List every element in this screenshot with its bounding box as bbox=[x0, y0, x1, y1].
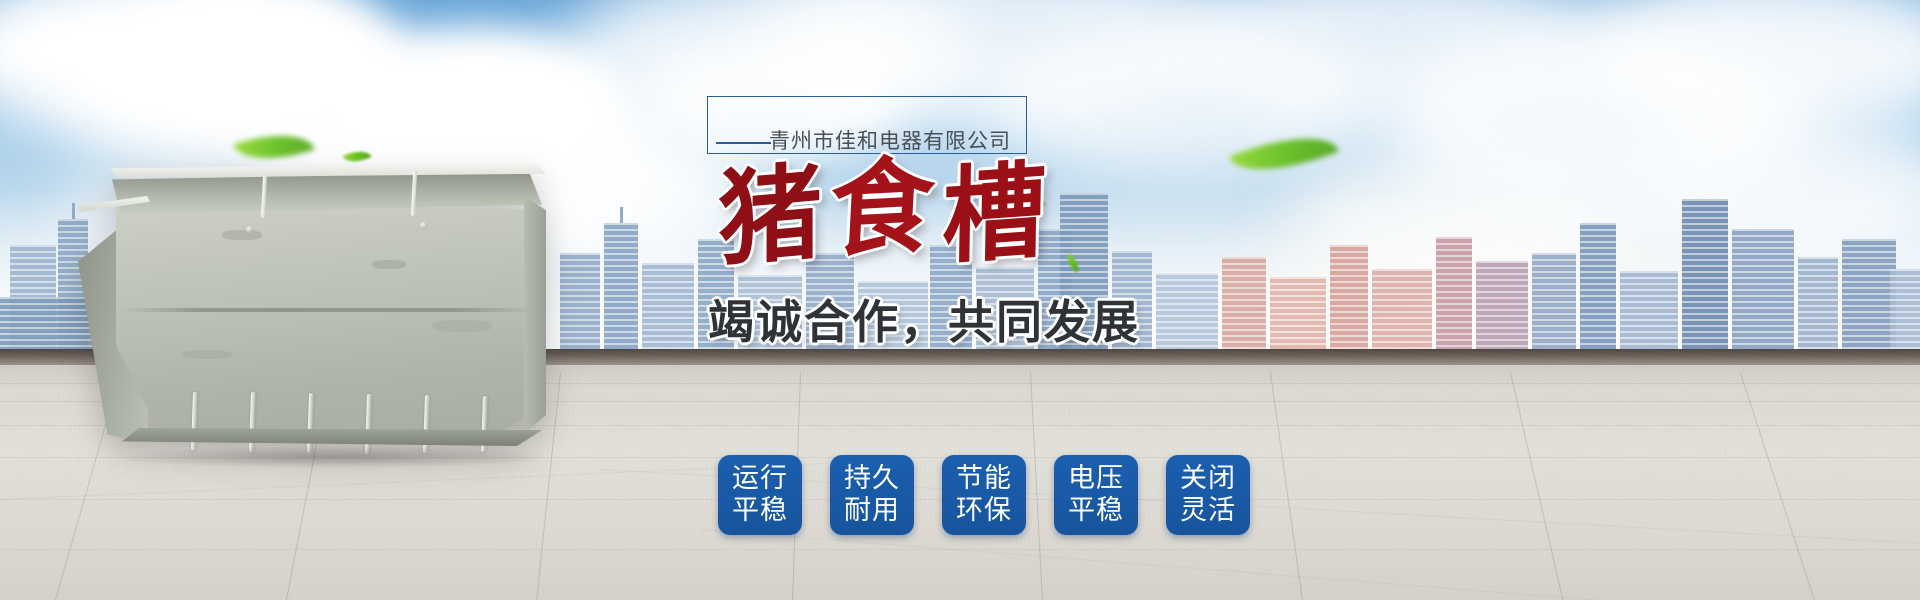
badge-line-1: 持久 bbox=[844, 463, 900, 495]
badge-line-2: 灵活 bbox=[1180, 495, 1236, 527]
feature-badge[interactable]: 持久 耐用 bbox=[830, 455, 914, 535]
trough-divider-bar bbox=[249, 392, 256, 452]
trough-divider-bar bbox=[307, 393, 314, 453]
feature-badge[interactable]: 运行 平稳 bbox=[718, 455, 802, 535]
title-char-1: 猪 bbox=[718, 159, 822, 272]
product-image-pig-feeding-trough bbox=[72, 160, 572, 460]
promo-banner: 青州市佳和电器有限公司 猪 食 槽 竭诚合作，共同发展 运行 平稳 持久 耐用 … bbox=[0, 0, 1920, 600]
badge-line-1: 关闭 bbox=[1180, 463, 1236, 495]
company-name-frame: 青州市佳和电器有限公司 bbox=[707, 96, 1027, 154]
title-char-2: 食 bbox=[827, 153, 936, 263]
headline-block: 青州市佳和电器有限公司 猪 食 槽 竭诚合作，共同发展 bbox=[700, 96, 1220, 352]
feature-badge-list: 运行 平稳 持久 耐用 节能 环保 电压 平稳 关闭 灵活 bbox=[718, 455, 1250, 535]
badge-line-1: 节能 bbox=[956, 463, 1012, 495]
badge-line-2: 平稳 bbox=[1068, 495, 1124, 527]
badge-line-2: 环保 bbox=[956, 495, 1012, 527]
feature-badge[interactable]: 关闭 灵活 bbox=[1166, 455, 1250, 535]
badge-line-1: 运行 bbox=[732, 463, 788, 495]
trough-divider-bar bbox=[365, 394, 372, 454]
badge-line-2: 耐用 bbox=[844, 495, 900, 527]
page-title: 猪 食 槽 bbox=[718, 160, 1220, 280]
subtitle: 竭诚合作，共同发展 bbox=[708, 286, 1220, 352]
feature-badge[interactable]: 电压 平稳 bbox=[1054, 455, 1138, 535]
feature-badge[interactable]: 节能 环保 bbox=[942, 455, 1026, 535]
title-char-3: 槽 bbox=[941, 158, 1047, 270]
badge-line-2: 平稳 bbox=[732, 495, 788, 527]
badge-line-1: 电压 bbox=[1068, 463, 1124, 495]
